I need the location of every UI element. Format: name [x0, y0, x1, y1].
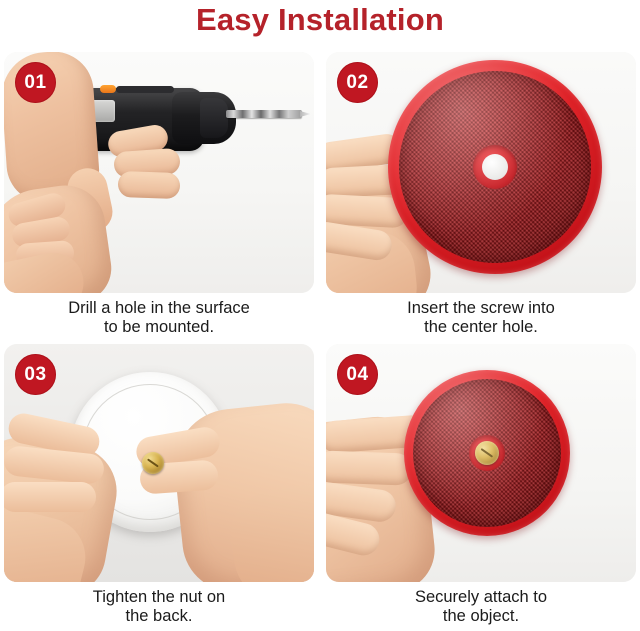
- step-02-caption-line1: Insert the screw into: [407, 299, 555, 317]
- screw-slot: [481, 448, 494, 458]
- hand-left-fingers: [8, 420, 118, 540]
- brass-screw: [475, 441, 499, 465]
- drill-chuck: [200, 98, 228, 138]
- step-card-03: 03 Tighten the nut on the back.: [4, 344, 314, 631]
- brass-nut: [142, 452, 164, 474]
- step-badge-03: 03: [15, 354, 56, 395]
- step-badge-01: 01: [15, 62, 56, 103]
- step-badge-04: 04: [337, 354, 378, 395]
- steps-grid: 01 Drill a hole in the surface to be mou…: [0, 0, 640, 631]
- step-01-caption-line2: to be mounted.: [4, 318, 314, 337]
- hand-right-fingers: [108, 128, 194, 192]
- step-03-caption: Tighten the nut on the back.: [4, 588, 314, 626]
- center-hole: [482, 154, 508, 180]
- drill-bit: [226, 110, 302, 118]
- step-03-caption-line1: Tighten the nut on: [93, 588, 225, 606]
- nut-slot: [147, 458, 159, 467]
- step-01-caption-line1: Drill a hole in the surface: [68, 299, 250, 317]
- step-02-image: 02: [326, 52, 636, 293]
- reflector-disc: [388, 60, 602, 274]
- drill-top-ridge: [116, 86, 174, 93]
- installation-infographic: Easy Installation: [0, 0, 640, 631]
- step-card-04: 04 Securely attach to the object.: [326, 344, 636, 631]
- step-04-caption-line2: the object.: [326, 607, 636, 626]
- step-04-caption: Securely attach to the object.: [326, 588, 636, 626]
- step-03-image: 03: [4, 344, 314, 582]
- step-01-image: 01: [4, 52, 314, 293]
- step-04-caption-line1: Securely attach to: [415, 588, 547, 606]
- step-badge-02: 02: [337, 62, 378, 103]
- step-02-caption-line2: the center hole.: [326, 318, 636, 337]
- step-01-caption: Drill a hole in the surface to be mounte…: [4, 299, 314, 337]
- step-card-02: 02 Insert the screw into the center hole…: [326, 52, 636, 342]
- reflector-disc: [404, 370, 570, 536]
- drill-orange-button: [100, 85, 116, 93]
- step-card-01: 01 Drill a hole in the surface to be mou…: [4, 52, 314, 342]
- step-02-caption: Insert the screw into the center hole.: [326, 299, 636, 337]
- step-04-image: 04: [326, 344, 636, 582]
- step-03-caption-line2: the back.: [4, 607, 314, 626]
